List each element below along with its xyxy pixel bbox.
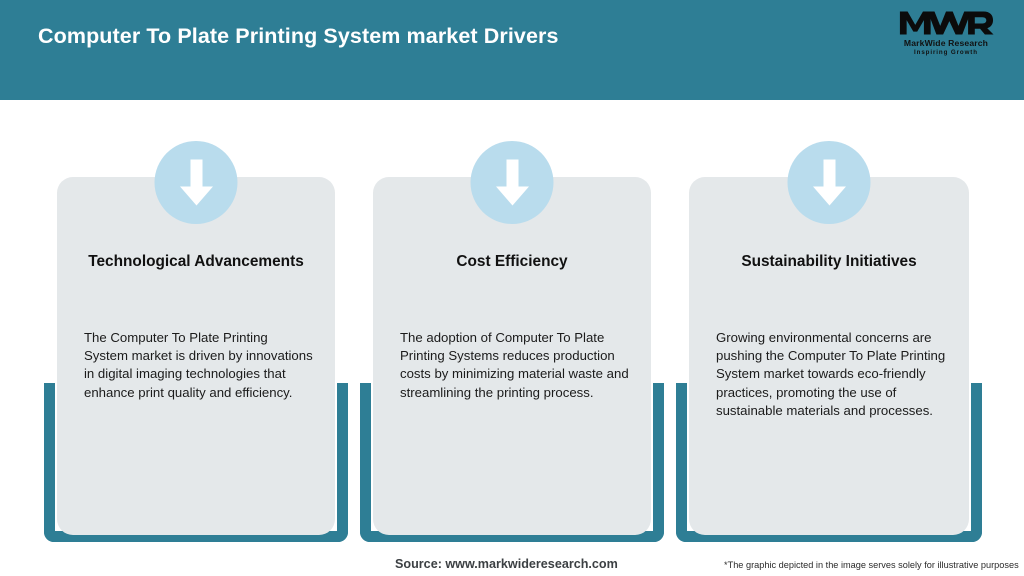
card-panel-2: Cost Efficiency The adoption of Computer… (373, 177, 651, 535)
card-title-1: Technological Advancements (71, 253, 321, 271)
footer-disclaimer: *The graphic depicted in the image serve… (724, 560, 1019, 570)
drivers-board: Technological Advancements The Computer … (0, 100, 1024, 540)
logo-tagline: Inspiring Growth (914, 50, 978, 56)
logo-company-name: MarkWide Research (904, 39, 988, 48)
header-bar: Computer To Plate Printing System market… (0, 0, 1024, 100)
arrow-down-icon (155, 141, 238, 224)
page-title: Computer To Plate Printing System market… (38, 24, 559, 49)
card-body-3: Growing environmental concerns are pushi… (716, 329, 947, 420)
card-title-3: Sustainability Initiatives (703, 253, 955, 271)
card-panel-1: Technological Advancements The Computer … (57, 177, 335, 535)
driver-card-1: Technological Advancements The Computer … (44, 100, 348, 540)
card-title-2: Cost Efficiency (387, 253, 637, 271)
mwr-logo-icon (898, 8, 994, 38)
arrow-down-glyph (811, 159, 848, 206)
driver-card-2: Cost Efficiency The adoption of Computer… (360, 100, 664, 540)
driver-card-3: Sustainability Initiatives Growing envir… (676, 100, 982, 540)
arrow-down-glyph (494, 159, 531, 206)
brand-logo: MarkWide Research Inspiring Growth (890, 8, 1002, 62)
card-body-1: The Computer To Plate Printing System ma… (84, 329, 313, 402)
arrow-down-icon (788, 141, 871, 224)
arrow-down-icon (471, 141, 554, 224)
footer-source: Source: www.markwideresearch.com (395, 557, 618, 571)
card-panel-3: Sustainability Initiatives Growing envir… (689, 177, 969, 535)
card-body-2: The adoption of Computer To Plate Printi… (400, 329, 629, 402)
arrow-down-glyph (178, 159, 215, 206)
